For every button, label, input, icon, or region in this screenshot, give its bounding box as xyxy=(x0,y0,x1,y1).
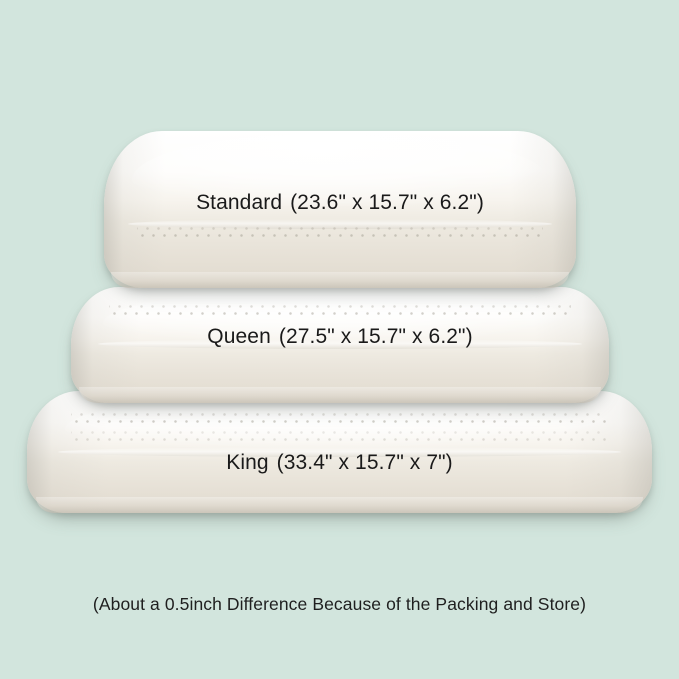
pillow-label-queen: Queen(27.5" x 15.7" x 6.2") xyxy=(71,325,609,349)
pillow-size-king: (33.4" x 15.7" x 7") xyxy=(277,451,453,474)
pillow-bottom-edge xyxy=(36,497,642,513)
pillow-label-king: King(33.4" x 15.7" x 7") xyxy=(27,451,652,475)
pillow-name-standard: Standard xyxy=(196,191,282,214)
pillow-bottom-edge xyxy=(79,387,601,403)
pillow-size-queen: (27.5" x 15.7" x 6.2") xyxy=(279,325,473,348)
packing-difference-caption: (About a 0.5inch Difference Because of t… xyxy=(0,594,679,615)
pillow-label-standard: Standard(23.6" x 15.7" x 6.2") xyxy=(104,191,576,215)
pillow-crease-line xyxy=(98,339,582,349)
latex-pinhole-texture xyxy=(137,227,543,240)
pillow-size-standard: (23.6" x 15.7" x 6.2") xyxy=(290,191,484,214)
pillow-name-queen: Queen xyxy=(207,325,271,348)
latex-pinhole-texture xyxy=(71,413,609,426)
pillow-king: King(33.4" x 15.7" x 7") xyxy=(27,391,652,513)
pillow-size-comparison-image: King(33.4" x 15.7" x 7") Queen(27.5" x 1… xyxy=(0,0,679,679)
pillow-side-shading xyxy=(27,391,652,513)
pillow-crease-line xyxy=(58,447,621,457)
pillow-top-highlight xyxy=(132,134,547,206)
pillow-crease-line xyxy=(128,219,553,229)
pillow-top-highlight xyxy=(103,289,576,342)
latex-pinhole-texture xyxy=(109,305,572,318)
pillow-name-king: King xyxy=(226,451,268,474)
latex-pinhole-texture-secondary xyxy=(71,431,609,444)
pillow-side-shading xyxy=(71,287,609,403)
pillow-queen: Queen(27.5" x 15.7" x 6.2") xyxy=(71,287,609,403)
pillow-standard: Standard(23.6" x 15.7" x 6.2") xyxy=(104,131,576,288)
pillow-side-shading xyxy=(104,131,576,288)
pillow-bottom-edge xyxy=(111,272,569,288)
